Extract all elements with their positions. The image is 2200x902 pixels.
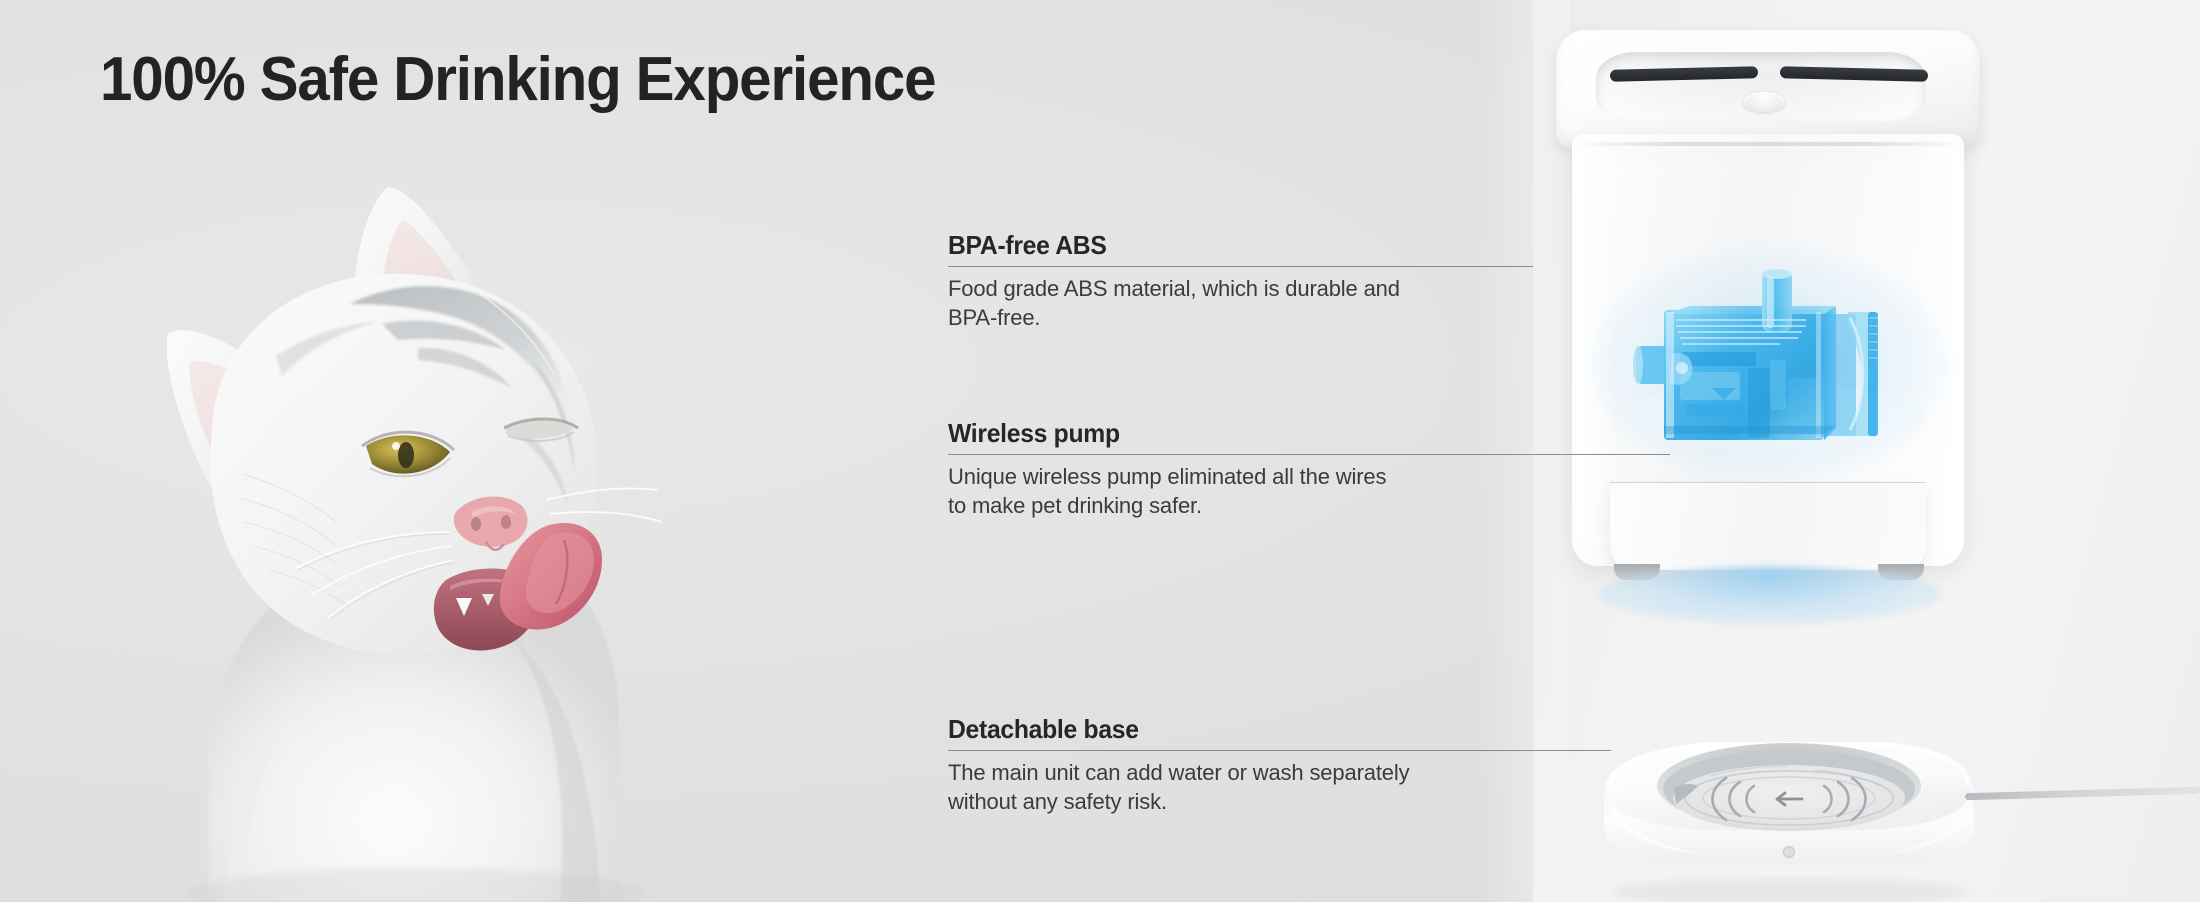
fountain-lid-nub bbox=[1744, 92, 1784, 112]
callout-detachable-base: Detachable base The main unit can add wa… bbox=[948, 714, 1538, 817]
tank-seam bbox=[1572, 142, 1964, 146]
fountain-lower-housing bbox=[1610, 482, 1926, 570]
callout-wireless-pump: Wireless pump Unique wireless pump elimi… bbox=[948, 418, 1538, 521]
fountain-under-glow bbox=[1598, 566, 1942, 624]
callout-title: BPA-free ABS bbox=[948, 230, 1509, 261]
callout-body: Unique wireless pump eliminated all the … bbox=[948, 462, 1538, 521]
callout-bpa-free-abs: BPA-free ABS Food grade ABS material, wh… bbox=[948, 230, 1538, 333]
detachable-charging-base bbox=[1578, 716, 1998, 902]
fountain-housing-seam bbox=[1610, 482, 1926, 483]
pet-water-fountain bbox=[1548, 30, 1988, 660]
callout-leader-rule bbox=[948, 750, 1611, 751]
status-led bbox=[1784, 847, 1795, 858]
callout-body: Food grade ABS material, which is durabl… bbox=[948, 274, 1538, 333]
page-title: 100% Safe Drinking Experience bbox=[100, 44, 935, 115]
callout-body: The main unit can add water or wash sepa… bbox=[948, 758, 1538, 817]
wireless-pump-module bbox=[1620, 268, 1920, 468]
callout-title: Detachable base bbox=[948, 714, 1509, 745]
callout-leader-rule bbox=[948, 454, 1670, 455]
product-infographic: 100% Safe Drinking Experience bbox=[0, 0, 2200, 902]
callout-leader-rule bbox=[948, 266, 1533, 267]
cat-licking-photo bbox=[150, 128, 770, 902]
callout-title: Wireless pump bbox=[948, 418, 1509, 449]
